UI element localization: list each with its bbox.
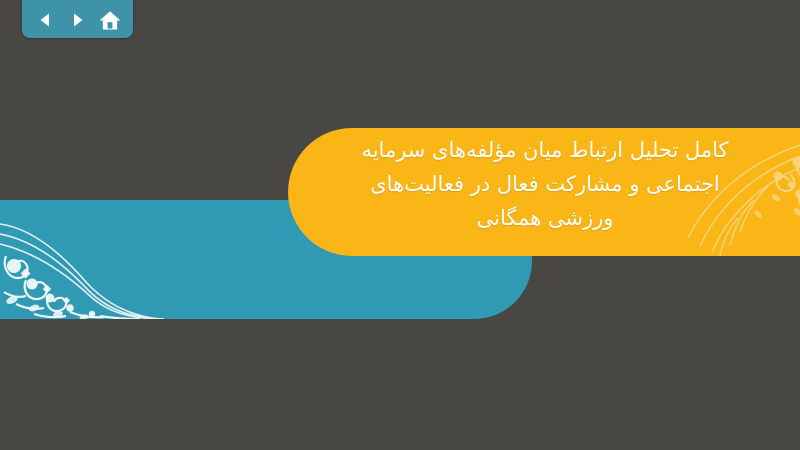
home-icon [100,11,120,30]
orange-banner-ornament-icon [668,128,800,256]
forward-button[interactable] [65,8,91,32]
teal-banner-ornament-icon [0,200,200,319]
forward-icon [69,11,87,29]
home-button[interactable] [97,8,123,32]
navigation-bar [22,0,133,38]
orange-banner [288,128,800,256]
slide-canvas: کامل تحلیل ارتباط میان مؤلفه‌های سرمایه … [0,0,800,450]
back-button[interactable] [32,8,58,32]
back-icon [36,11,54,29]
